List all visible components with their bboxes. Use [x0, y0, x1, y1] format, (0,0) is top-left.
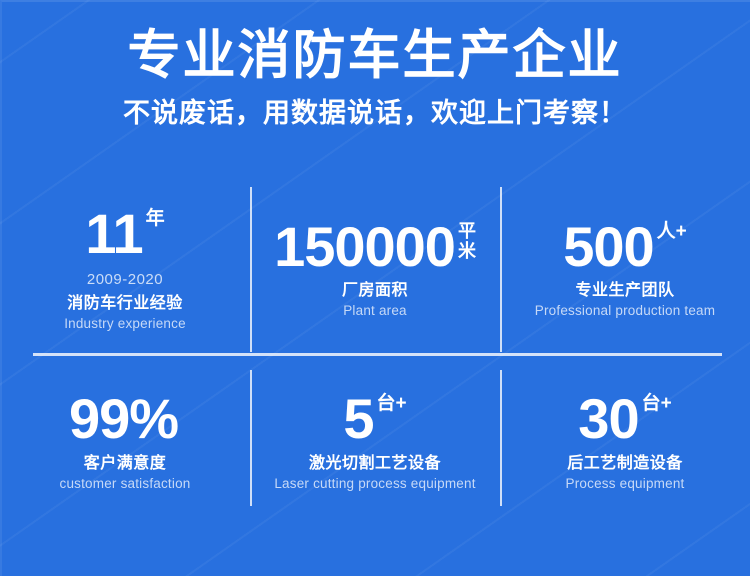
- stat-label-cn: 专业生产团队: [575, 281, 674, 300]
- stat-label-cn: 后工艺制造设备: [567, 454, 683, 473]
- stat-label-en: Professional production team: [535, 303, 715, 319]
- stat-label-en: Industry experience: [64, 316, 186, 332]
- stat-number-row: 30 台+: [578, 391, 671, 447]
- page-title: 专业消防车生产企业: [0, 26, 750, 85]
- stats-grid: 11 年 2009-2020 消防车行业经验 Industry experien…: [0, 183, 750, 528]
- stat-label-en: Process equipment: [566, 476, 685, 492]
- stat-value: 500: [563, 219, 653, 275]
- stat-cell-industry-experience: 11 年 2009-2020 消防车行业经验 Industry experien…: [0, 183, 250, 356]
- stat-unit: 台+: [377, 394, 407, 414]
- stat-label-en: Laser cutting process equipment: [274, 476, 475, 492]
- stat-value: 11: [85, 206, 142, 262]
- stat-cell-plant-area: 150000 平 米 厂房面积 Plant area: [250, 183, 500, 356]
- stat-label-cn: 激光切割工艺设备: [309, 454, 441, 473]
- stat-unit: 台+: [642, 394, 672, 414]
- stat-value: 30: [578, 391, 638, 447]
- stat-unit-char: 米: [458, 241, 476, 261]
- stat-cell-laser-cutting-equipment: 5 台+ 激光切割工艺设备 Laser cutting process equi…: [250, 356, 500, 529]
- stat-value: 99%: [69, 391, 178, 447]
- stat-number-row: 150000 平 米: [274, 219, 476, 275]
- stat-cell-customer-satisfaction: 99% 客户满意度 customer satisfaction: [0, 356, 250, 529]
- stat-label-cn: 客户满意度: [84, 454, 167, 473]
- stat-number-row: 11 年: [85, 206, 164, 262]
- stat-cell-process-equipment: 30 台+ 后工艺制造设备 Process equipment: [500, 356, 750, 529]
- stat-label-cn: 厂房面积: [342, 281, 408, 300]
- stat-subvalue: 2009-2020: [87, 271, 163, 288]
- stat-unit: 平 米: [458, 221, 476, 261]
- promo-banner: 专业消防车生产企业 不说废话，用数据说话，欢迎上门考察！ 11 年 2009-2…: [0, 0, 750, 576]
- stat-label-cn: 消防车行业经验: [67, 294, 183, 313]
- stat-label-en: customer satisfaction: [60, 476, 191, 492]
- stat-number-row: 99%: [69, 391, 181, 447]
- stat-cell-production-team: 500 人+ 专业生产团队 Professional production te…: [500, 183, 750, 356]
- stat-number-row: 500 人+: [563, 219, 687, 275]
- stat-unit: 年: [146, 209, 165, 229]
- stat-unit-char: 平: [458, 221, 476, 241]
- stat-number-row: 5 台+: [343, 391, 406, 447]
- banner-header: 专业消防车生产企业 不说废话，用数据说话，欢迎上门考察！: [0, 0, 750, 130]
- stat-value: 150000: [274, 219, 455, 275]
- stat-unit: 人+: [657, 222, 687, 242]
- page-subtitle: 不说废话，用数据说话，欢迎上门考察！: [0, 97, 750, 129]
- stat-value: 5: [343, 391, 373, 447]
- stat-label-en: Plant area: [343, 303, 407, 319]
